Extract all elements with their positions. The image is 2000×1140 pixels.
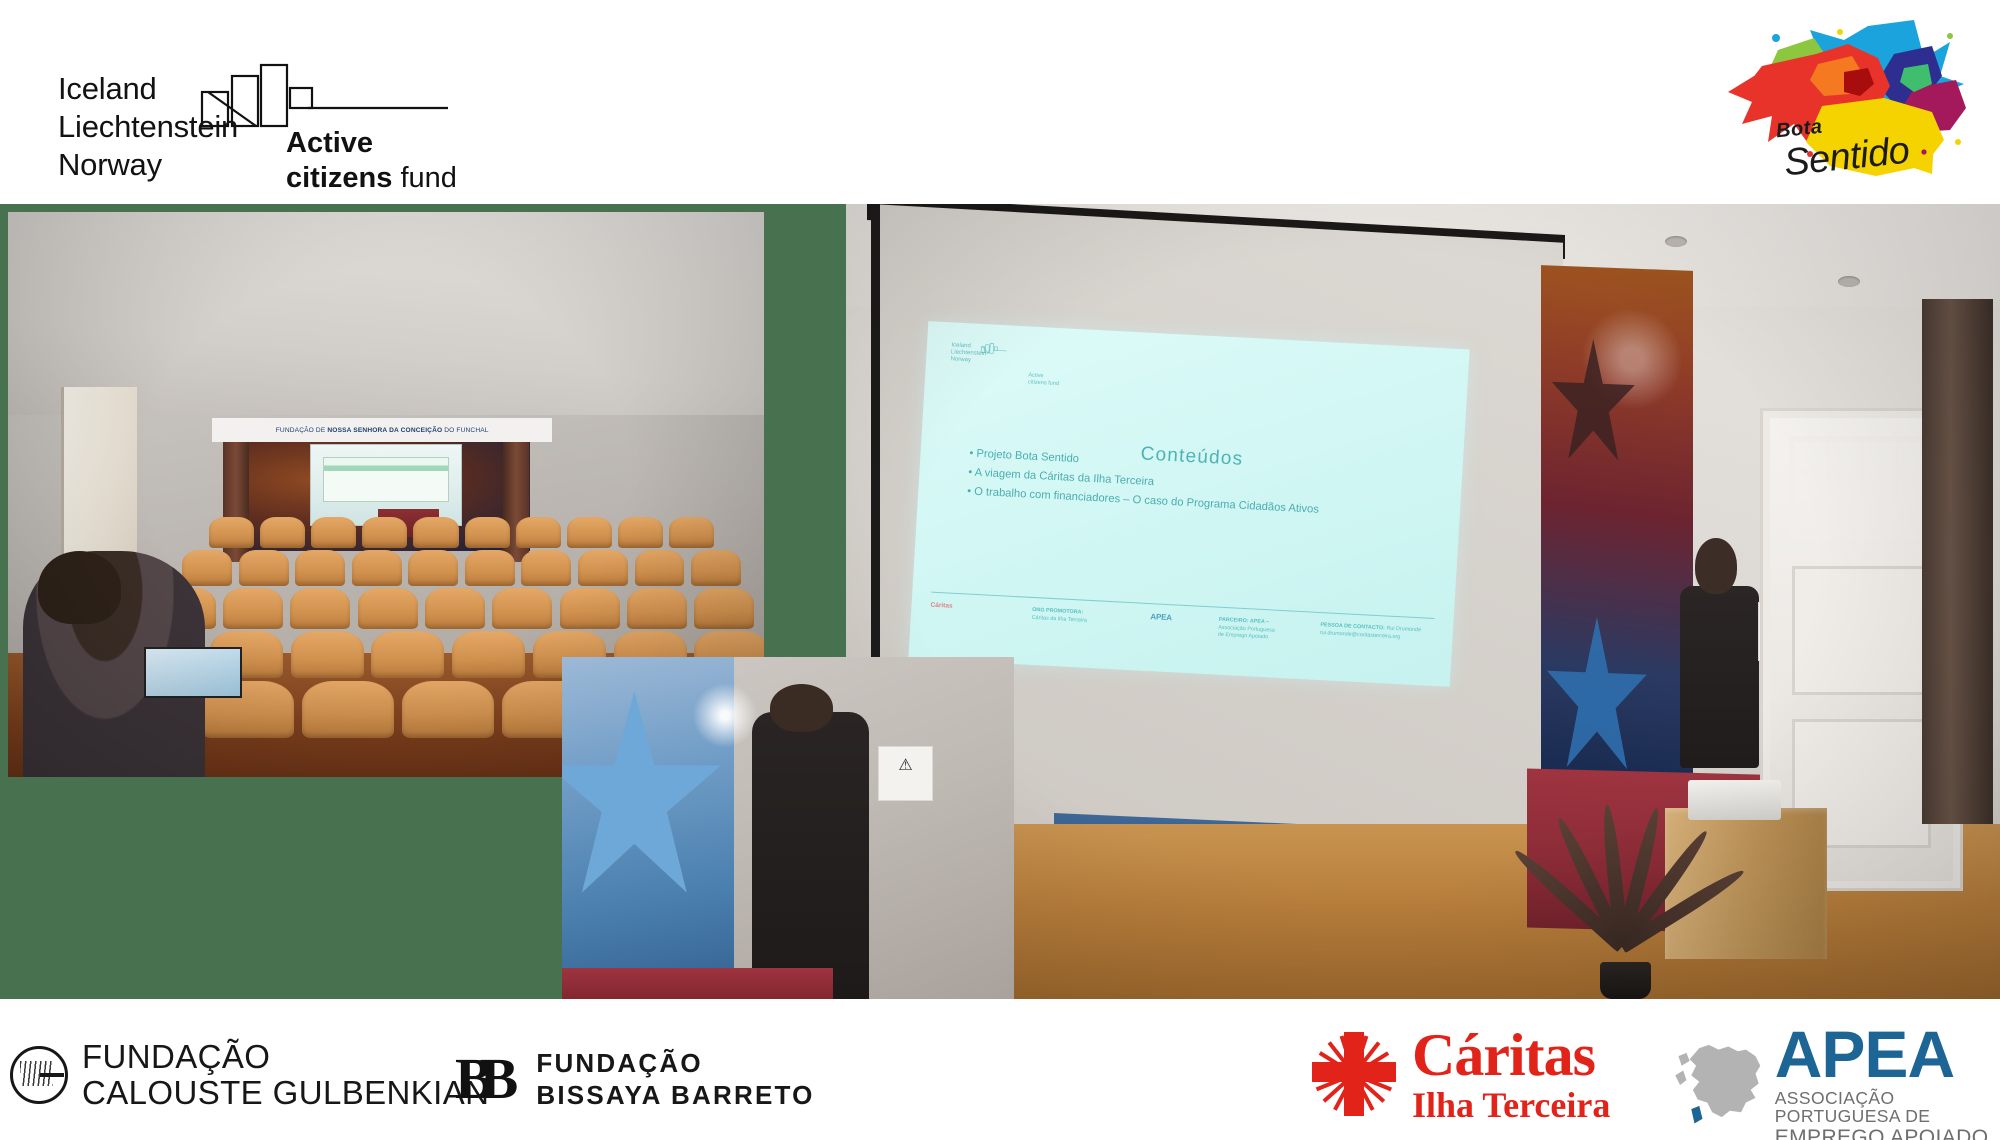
caritas-line2: Ilha Terceira xyxy=(1412,1087,1610,1123)
caritas-line1: Cáritas xyxy=(1412,1025,1610,1085)
acf-word-fund: fund xyxy=(400,162,456,194)
apea-logo: APEA ASSOCIAÇÃO PORTUGUESA DE EMPREGO AP… xyxy=(1672,1021,2000,1140)
eea-grants-logo: Iceland Liechtenstein Norway Active citi… xyxy=(58,42,558,172)
gulbenkian-G-icon xyxy=(10,1046,68,1104)
gulbenkian-logo: FUNDAÇÃO CALOUSTE GULBENKIAN xyxy=(10,1039,489,1111)
poster-page: Iceland Liechtenstein Norway Active citi… xyxy=(0,0,2000,1140)
europe-map-icon xyxy=(1672,1033,1767,1137)
acf-word-active: Active xyxy=(286,127,373,159)
bb-monogram-icon: BB xyxy=(455,1045,518,1112)
apea-line1: ASSOCIAÇÃO PORTUGUESA DE xyxy=(1775,1090,2000,1125)
bissaya-line1: FUNDAÇÃO xyxy=(536,1047,814,1079)
gulbenkian-line2: CALOUSTE GULBENKIAN xyxy=(82,1075,489,1111)
apea-mark: APEA xyxy=(1775,1021,2000,1087)
bissaya-barreto-logo: BB FUNDAÇÃO BISSAYA BARRETO xyxy=(455,1045,815,1112)
header-band: Iceland Liechtenstein Norway Active citi… xyxy=(0,0,2000,204)
eea-country-iceland: Iceland xyxy=(58,70,238,108)
caritas-logo: Cáritas Ilha Terceira xyxy=(1306,1025,1610,1123)
photo-speaker-closeup xyxy=(562,657,1014,999)
bissaya-line2: BISSAYA BARRETO xyxy=(536,1079,814,1111)
photo-stage-presentation: Iceland Liechtenstein Norway Active citi… xyxy=(846,204,2000,999)
inset-warning-sign-icon xyxy=(878,746,932,801)
eea-country-names: Iceland Liechtenstein Norway xyxy=(58,70,238,184)
bota-sentido-logo: Bota Sentido xyxy=(1718,14,1968,186)
caritas-cross-icon xyxy=(1306,1026,1402,1122)
footer-band: FUNDAÇÃO CALOUSTE GULBENKIAN BB FUNDAÇÃO… xyxy=(0,999,2000,1140)
gulbenkian-line1: FUNDAÇÃO xyxy=(82,1039,489,1075)
apea-line2: EMPREGO APOIADO xyxy=(1775,1127,2000,1140)
eea-country-norway: Norway xyxy=(58,146,238,184)
active-citizens-fund-wordmark: Active citizens fund xyxy=(286,126,457,196)
acf-word-citizens: citizens xyxy=(286,162,392,194)
eea-country-liechtenstein: Liechtenstein xyxy=(58,108,238,146)
